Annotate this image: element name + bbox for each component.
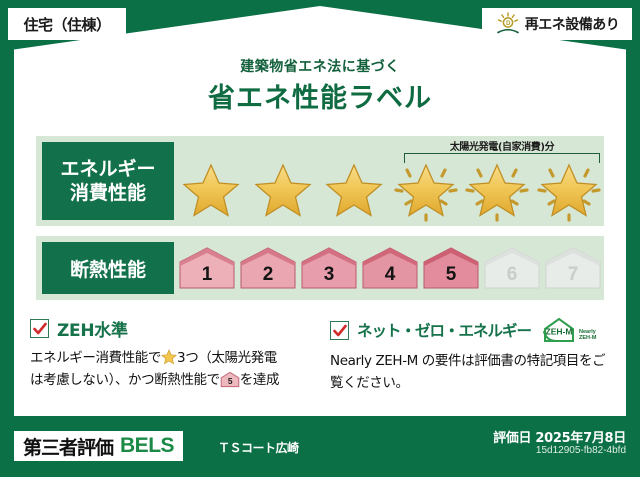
evaluation-id: 15d12905-fb82-4bfd: [536, 445, 626, 456]
sun-solar-icon: D: [495, 12, 521, 36]
zeh-body-part4: を達成: [240, 372, 279, 388]
insulation-grade-7: 7: [544, 246, 602, 290]
inline-grade-value: 5: [228, 376, 233, 386]
insulation-grade-label-7: 7: [544, 264, 602, 286]
building-type-chip: 住宅（住棟）: [8, 8, 126, 40]
nze-criteria-block: ネット・ゼロ・エネルギー ZEH-M Nearly ZEH-M Nearly Z…: [330, 316, 612, 395]
svg-text:ZEH-M: ZEH-M: [579, 335, 597, 341]
nze-checkbox-icon: [330, 321, 349, 340]
evaluation-date-value: 2025年7月8日: [535, 431, 626, 446]
zeh-criteria-block: ZEH水準 エネルギー消費性能で 3つ（太陽光発電は考慮しない）、かつ断熱性能で…: [30, 316, 318, 392]
insulation-performance-key: 断熱性能: [42, 242, 174, 294]
nze-criteria-header: ネット・ゼロ・エネルギー ZEH-M Nearly ZEH-M: [330, 316, 612, 344]
insulation-grade-6: 6: [483, 246, 541, 290]
energy-star-4: [393, 160, 459, 222]
energy-star-1: [178, 160, 244, 222]
insulation-grade-label-6: 6: [483, 264, 541, 286]
insulation-grade-4: 4: [361, 246, 419, 290]
energy-performance-key: エネルギー 消費性能: [42, 142, 174, 220]
energy-performance-label: 住宅（住棟） D 再エネ設備あり 建築物省エネ法に基づく 省エネ性能ラベル: [0, 0, 640, 477]
label-footer: 第三者評価 BELS ＴＳコート広崎 評価日 2025年7月8日 15d1290…: [0, 419, 640, 477]
inline-star-icon: [161, 349, 177, 365]
zeh-body-part2: 3つ（太陽光発電: [177, 350, 277, 366]
energy-key-line1: エネルギー: [60, 157, 155, 181]
zeh-criteria-title: ZEH水準: [57, 316, 128, 341]
evaluation-date: 評価日 2025年7月8日: [493, 427, 626, 446]
energy-key-line2: 消費性能: [70, 181, 146, 205]
bels-jp-label: 第三者評価: [23, 433, 113, 460]
energy-performance-value: 太陽光発電(自家消費)分: [174, 136, 604, 226]
zeh-m-logo-icon: ZEH-M Nearly ZEH-M: [541, 316, 603, 344]
insulation-grade-1: 1: [178, 246, 236, 290]
insulation-grade-scale: 1 2 3 4 5 6 7: [178, 246, 602, 290]
insulation-grade-5: 5: [422, 246, 480, 290]
bels-en-label: BELS: [120, 434, 174, 458]
evaluation-date-label: 評価日: [493, 431, 531, 446]
renewable-equipment-chip: D 再エネ設備あり: [482, 8, 632, 40]
zeh-criteria-header: ZEH水準: [30, 316, 318, 341]
insulation-grade-label-5: 5: [422, 264, 480, 286]
label-subtitle: 建築物省エネ法に基づく: [0, 56, 640, 76]
insulation-performance-row: 断熱性能 1 2 3 4 5 6 7: [36, 236, 604, 300]
energy-star-rating: [178, 160, 602, 222]
energy-star-5: [464, 160, 530, 222]
insulation-grade-label-4: 4: [361, 264, 419, 286]
renewable-equipment-label: 再エネ設備あり: [525, 14, 620, 34]
building-type-label: 住宅（住棟）: [23, 14, 110, 35]
svg-text:ZEH-M: ZEH-M: [546, 327, 573, 337]
nze-criteria-title: ネット・ゼロ・エネルギー: [357, 319, 531, 341]
insulation-grade-label-1: 1: [178, 264, 236, 286]
energy-star-3: [321, 160, 387, 222]
energy-performance-row: エネルギー 消費性能 太陽光発電(自家消費)分: [36, 136, 604, 226]
insulation-grade-label-2: 2: [239, 264, 297, 286]
zeh-body-part3: は考慮しない）、かつ断熱性能で: [30, 372, 220, 388]
insulation-performance-value: 1 2 3 4 5 6 7: [174, 236, 604, 300]
zeh-checkbox-icon: [30, 319, 49, 338]
solar-bracket-caption: 太陽光発電(自家消費)分: [402, 138, 602, 153]
building-name: ＴＳコート広崎: [218, 439, 299, 456]
insulation-grade-2: 2: [239, 246, 297, 290]
nze-criteria-body: Nearly ZEH-M の要件は評価書の特記項目をご覧ください。: [330, 351, 612, 395]
energy-star-6: [536, 160, 602, 222]
insulation-key-label: 断熱性能: [70, 255, 146, 282]
insulation-grade-label-3: 3: [300, 264, 358, 286]
insulation-grade-3: 3: [300, 246, 358, 290]
bels-badge: 第三者評価 BELS: [14, 431, 183, 461]
inline-grade-badge: 5: [220, 371, 240, 388]
zeh-criteria-body: エネルギー消費性能で 3つ（太陽光発電は考慮しない）、かつ断熱性能で 5 を達成: [30, 348, 318, 392]
page-title: 省エネ性能ラベル: [0, 76, 640, 115]
energy-star-2: [250, 160, 316, 222]
zeh-body-part1: エネルギー消費性能で: [30, 350, 161, 366]
